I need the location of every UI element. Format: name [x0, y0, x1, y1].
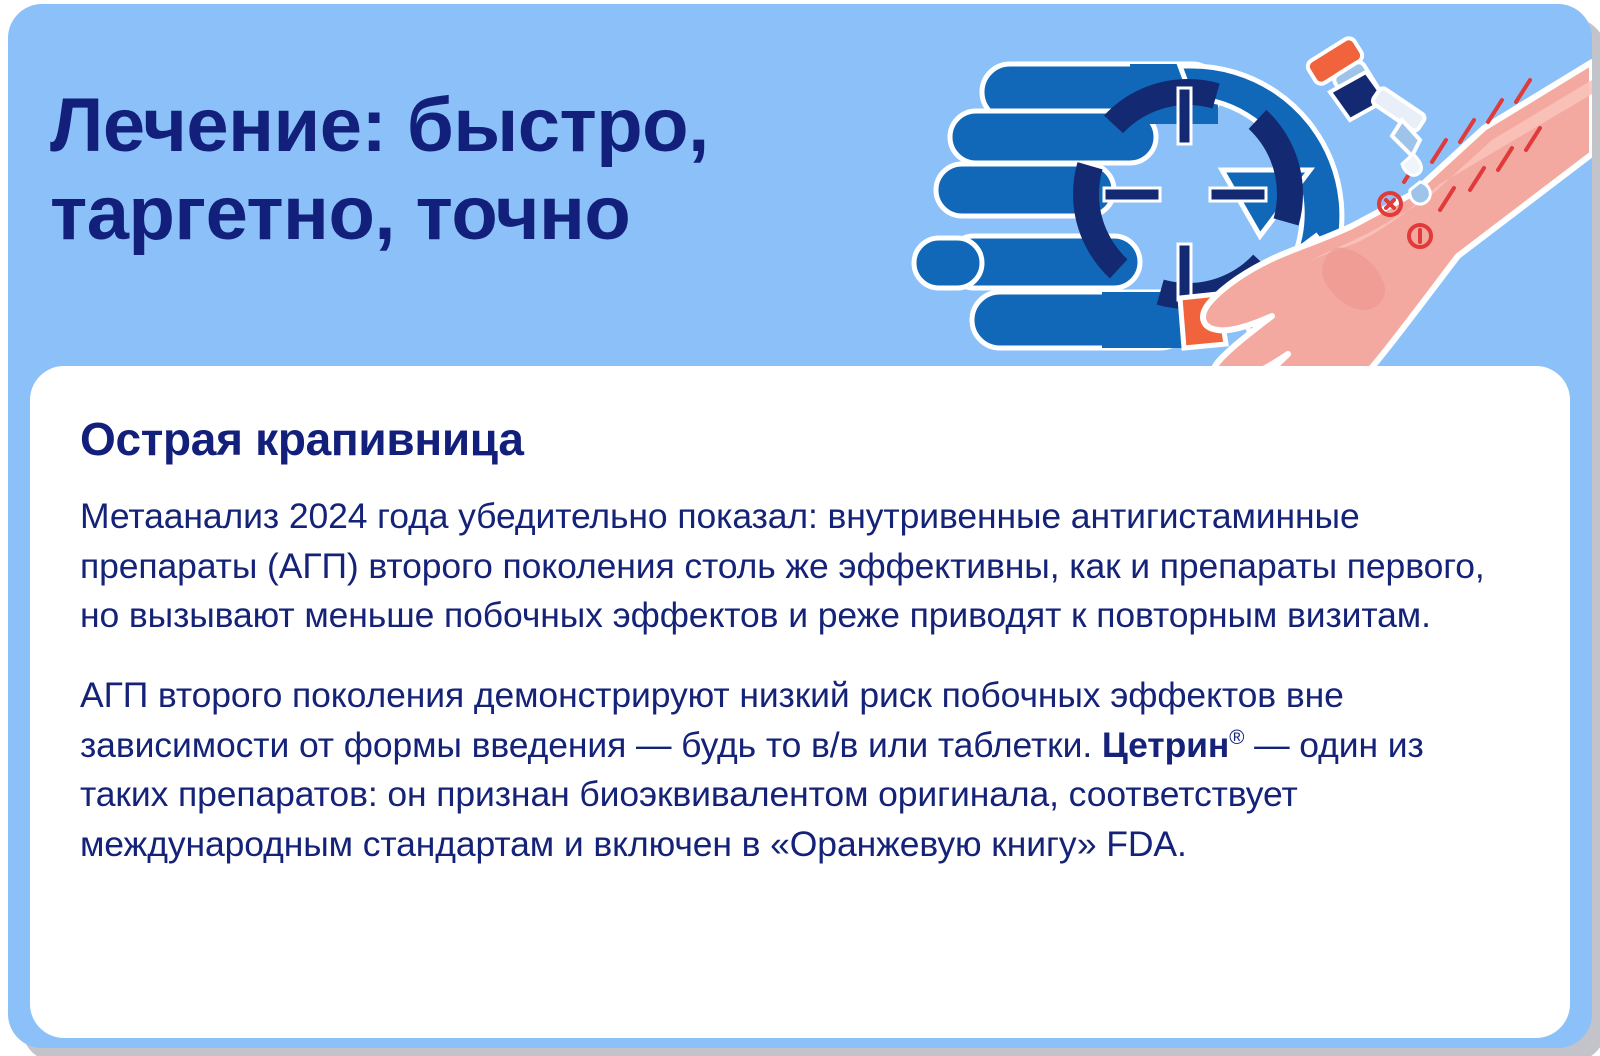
paragraph-cetrin: АГП второго поколения демонстрируют низк…	[80, 671, 1514, 870]
content-card: Острая крапивница Метаанализ 2024 года у…	[30, 366, 1570, 1038]
paragraph-meta-analysis: Метаанализ 2024 года убедительно показал…	[80, 492, 1514, 641]
illustration-svg	[892, 4, 1592, 376]
brand-name-cetrin: Цетрин	[1102, 725, 1229, 765]
content-heading: Острая крапивница	[80, 412, 1514, 466]
page-title: Лечение: быстро, таргетно, точно	[50, 82, 910, 258]
infographic-card: Лечение: быстро, таргетно, точно	[8, 4, 1592, 1048]
registered-trademark-icon: ®	[1229, 726, 1244, 749]
liquid-drop-icon	[1410, 182, 1431, 204]
speed-dot-icon	[914, 238, 982, 288]
header-region: Лечение: быстро, таргетно, точно	[8, 4, 1592, 376]
header-illustration	[892, 4, 1592, 376]
